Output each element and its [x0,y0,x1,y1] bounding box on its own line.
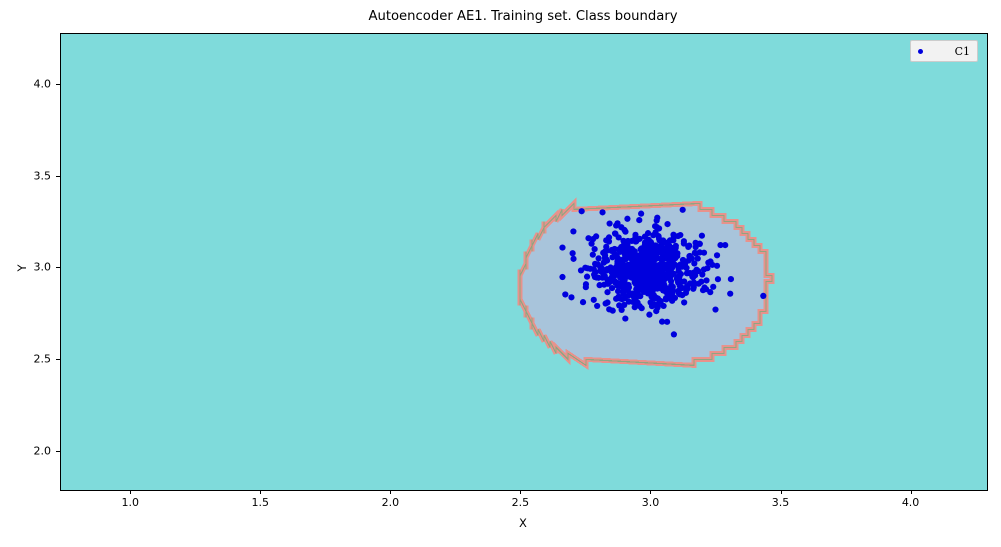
scatter-point [584,274,590,280]
scatter-point [635,285,641,291]
scatter-point [697,241,703,247]
x-tick-mark [390,490,391,494]
x-tick-mark [130,490,131,494]
scatter-point [727,291,733,297]
y-tick-mark [56,267,60,268]
scatter-point [646,312,652,318]
scatter-point [596,282,602,288]
y-tick-mark [56,176,60,177]
y-axis-label: Y [15,238,29,298]
scatter-point [635,253,641,259]
scatter-point [601,260,607,266]
scatter-point [592,246,598,252]
scatter-point [630,293,636,299]
scatter-point [701,284,707,290]
scatter-point [595,275,601,281]
scatter-point [648,273,654,279]
scatter-point [714,252,720,258]
scatter-point [607,279,613,285]
scatter-point [626,299,632,305]
scatter-point [699,233,705,239]
scatter-point [644,265,650,271]
x-tick-mark [650,490,651,494]
scatter-point [612,253,618,259]
scatter-point [649,303,655,309]
scatter-point [660,240,666,246]
scatter-point [593,233,599,239]
scatter-point [599,265,605,271]
scatter-point [728,276,734,282]
scatter-series-c1 [559,207,766,338]
scatter-point [625,238,631,244]
scatter-point [649,259,655,265]
scatter-point [602,248,608,254]
scatter-point [699,271,705,277]
scatter-point [617,295,623,301]
y-tick-mark [56,84,60,85]
scatter-point [641,289,647,295]
scatter-point [641,247,647,253]
scatter-point [677,232,683,238]
scatter-point [562,291,568,297]
scatter-point [614,265,620,271]
legend[interactable]: C1 [910,40,978,62]
scatter-point [618,258,624,264]
scatter-point [583,281,589,287]
legend-marker-c1-icon [918,49,923,54]
scatter-point [655,233,661,239]
y-tick-mark [56,451,60,452]
x-tick-label: 1.5 [252,496,270,509]
scatter-point-outlier [680,207,686,213]
x-axis-label: X [60,516,986,530]
scatter-point [703,277,709,283]
scatter-point [559,274,565,280]
scatter-point [609,285,615,291]
scatter-point [664,221,670,227]
figure-canvas: Autoencoder AE1. Training set. Class bou… [0,0,1001,547]
scatter-point [570,250,576,256]
scatter-point [615,288,621,294]
scatter-point [614,272,620,278]
scatter-point [622,315,628,321]
x-tick-label: 3.5 [772,496,790,509]
y-tick-label: 3.5 [7,169,51,182]
scatter-point [591,266,597,272]
y-tick-label: 2.0 [7,444,51,457]
scatter-point [654,217,660,223]
scatter-point [655,302,661,308]
scatter-point [559,244,565,250]
scatter-point [636,217,642,223]
scatter-point [599,209,605,215]
scatter-point [585,235,591,241]
scatter-point [683,265,689,271]
scatter-point [686,243,692,249]
scatter-point [580,299,586,305]
scatter-point [594,303,600,309]
scatter-point [714,263,720,269]
scatter-point [610,308,616,314]
scatter-point [652,223,658,229]
scatter-point [677,291,683,297]
scatter-point [671,331,677,337]
scatter-point [712,306,718,312]
scatter-point [628,247,634,253]
scatter-point [686,270,692,276]
scatter-point [660,262,666,268]
scatter-point [715,276,721,282]
scatter-point [645,230,651,236]
y-tick-label: 4.0 [7,78,51,91]
scatter-point [678,271,684,277]
scatter-point [681,299,687,305]
scatter-point [579,208,585,214]
scatter-point [673,251,679,257]
x-tick-mark [520,490,521,494]
scatter-point [707,289,713,295]
scatter-point [669,260,675,266]
scatter-point [660,303,666,309]
scatter-point-outlier [760,293,766,299]
scatter-point [616,234,622,240]
scatter-point [666,242,672,248]
scatter-point [570,228,576,234]
scatter-point [682,285,688,291]
x-tick-mark [911,490,912,494]
scatter-point [637,303,643,309]
plot-area [60,33,988,491]
scatter-point [619,268,625,274]
x-tick-label: 2.0 [382,496,400,509]
x-tick-mark [781,490,782,494]
scatter-point [570,256,576,262]
scatter-point [664,319,670,325]
scatter-point [603,300,609,306]
scatter-point [701,250,707,256]
scatter-point [578,267,584,273]
scatter-point [585,265,591,271]
scatter-point [686,253,692,259]
scatter-point [691,284,697,290]
scatter-point [670,287,676,293]
scatter-point [632,279,638,285]
scatter-point [649,279,655,285]
x-tick-label: 3.0 [642,496,660,509]
scatter-point [606,220,612,226]
scatter-point [650,265,656,271]
scatter-point [661,281,667,287]
chart-title: Autoencoder AE1. Training set. Class bou… [60,9,986,24]
scatter-point [636,262,642,268]
scatter-point [633,268,639,274]
scatter-point [670,232,676,238]
scatter-point [630,261,636,267]
scatter-point [618,224,624,230]
scatter-point [710,284,716,290]
scatter-point [568,294,574,300]
scatter-point [653,308,659,314]
x-tick-label: 2.5 [512,496,530,509]
scatter-point [651,295,657,301]
x-tick-mark [260,490,261,494]
scatter-point [695,255,701,261]
scatter-point [656,246,662,252]
scatter-point [590,252,596,258]
scatter-point [616,302,622,308]
x-tick-label: 4.0 [902,496,920,509]
scatter-point [606,238,612,244]
scatter-points-layer [61,34,987,490]
scatter-point [637,236,643,242]
scatter-point [626,284,632,290]
y-tick-label: 3.0 [7,261,51,274]
scatter-point [624,216,630,222]
y-tick-mark [56,359,60,360]
scatter-point [722,242,728,248]
scatter-point [663,296,669,302]
legend-label-c1: C1 [932,45,970,58]
scatter-point [641,278,647,284]
scatter-point [666,274,672,280]
scatter-point [591,297,597,303]
x-tick-label: 1.0 [121,496,139,509]
y-tick-label: 2.5 [7,352,51,365]
scatter-point [624,252,630,258]
scatter-point [638,211,644,217]
scatter-point [602,273,608,279]
scatter-point [588,241,594,247]
scatter-point [596,255,602,261]
scatter-point [616,246,622,252]
